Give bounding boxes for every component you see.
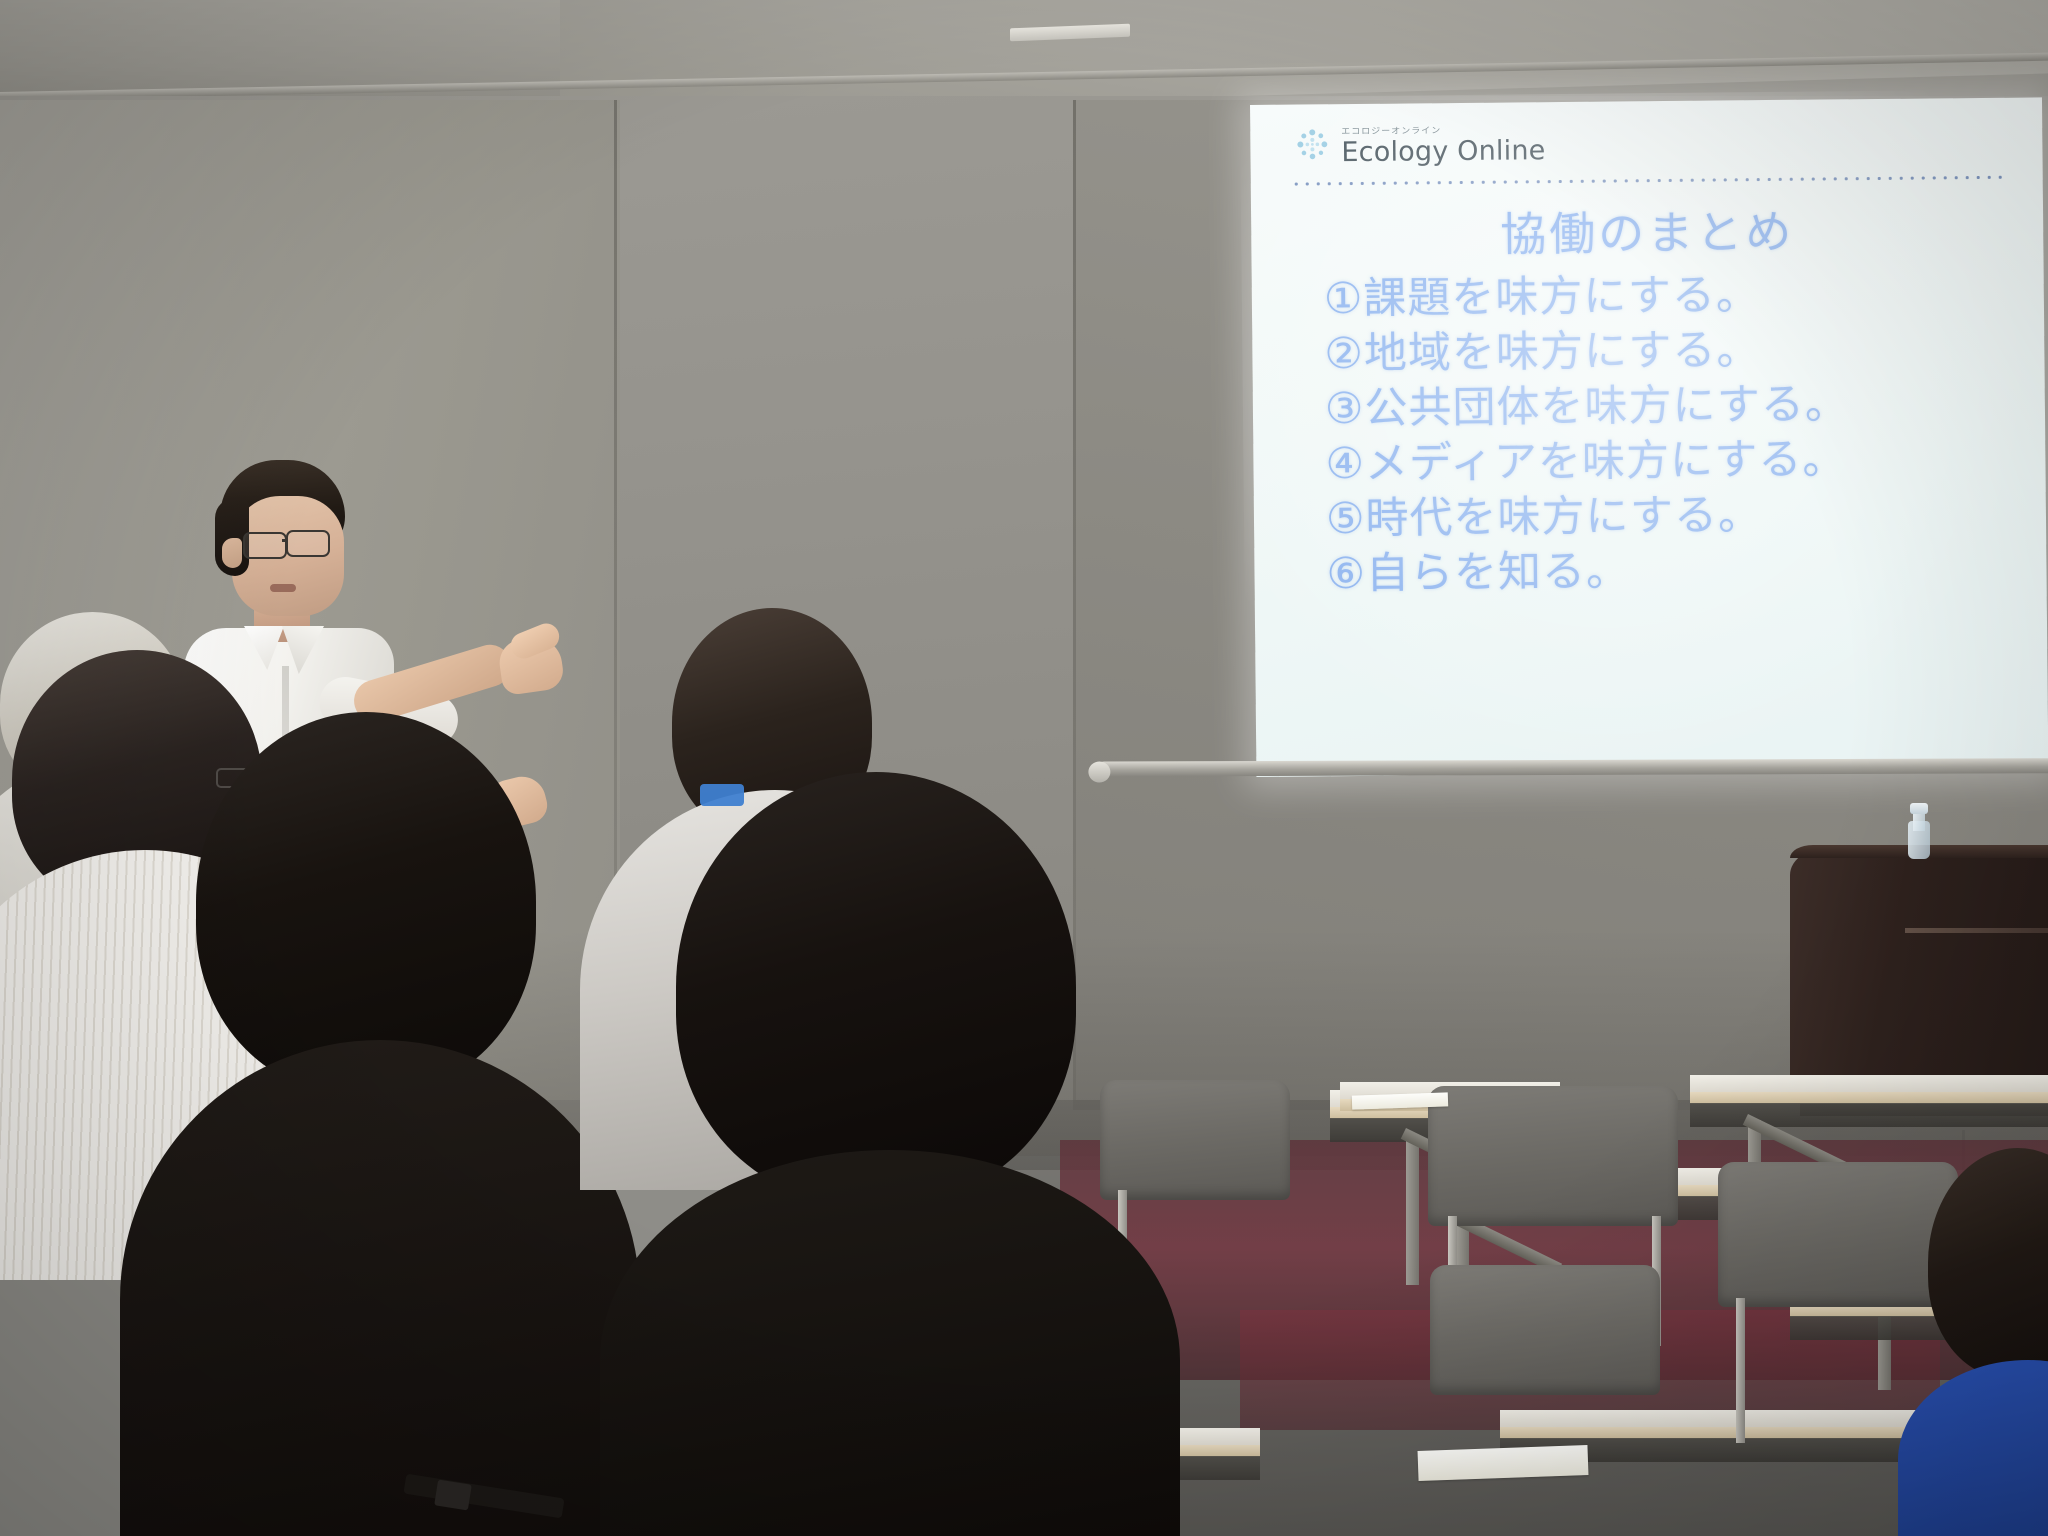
- list-item: ④メディアを味方にする。: [1325, 431, 2025, 493]
- chair-backrest: [1100, 1080, 1290, 1200]
- lectern-groove: [1905, 928, 2048, 933]
- chair: [1428, 1086, 1678, 1226]
- eyeglasses-icon: [286, 530, 330, 557]
- strap-buckle: [434, 1480, 472, 1511]
- desk-leg: [1406, 1135, 1419, 1285]
- chair: [1430, 1265, 1660, 1395]
- chair: [1100, 1080, 1290, 1200]
- bottle-cap: [1910, 803, 1928, 814]
- desk-top: [1690, 1075, 2048, 1093]
- paper-sheet: [1418, 1445, 1589, 1481]
- list-item: ⑤時代を味方にする。: [1326, 486, 2026, 548]
- slide-logo: エコロジーオンライン Ecology Online: [1292, 124, 1545, 166]
- bottle-neck: [1913, 813, 1925, 831]
- eyeglasses-bridge: [282, 539, 288, 542]
- list-item: ③公共団体を味方にする。: [1325, 376, 2025, 438]
- list-item: ②地域を味方にする。: [1324, 321, 2024, 383]
- ecology-online-dot-mark-icon: [1292, 126, 1332, 166]
- slide-bullet-list: ①課題を味方にする。 ②地域を味方にする。 ③公共団体を味方にする。 ④メディア…: [1324, 266, 2027, 603]
- chair-backrest: [1718, 1162, 1958, 1307]
- chair-backrest: [1430, 1265, 1660, 1395]
- lectern: [1790, 845, 2048, 1100]
- shoulders: [120, 1040, 640, 1536]
- lecture-room-photo: エコロジーオンライン Ecology Online 協働のまとめ ①課題を味方に…: [0, 0, 2048, 1536]
- chair-backrest: [1428, 1086, 1678, 1226]
- eyeglasses-icon: [243, 532, 287, 559]
- logo-wordmark: Ecology Online: [1341, 137, 1545, 166]
- chair-post: [1736, 1298, 1745, 1443]
- head: [196, 712, 536, 1092]
- list-item: ①課題を味方にする。: [1324, 266, 2024, 328]
- projection-screen: エコロジーオンライン Ecology Online 協働のまとめ ①課題を味方に…: [1250, 97, 2048, 777]
- list-item: ⑥自らを知る。: [1326, 541, 2026, 603]
- presenter-ear: [222, 538, 242, 568]
- water-bottle: [1908, 803, 1930, 859]
- head: [676, 772, 1076, 1202]
- lanyard: [700, 784, 744, 806]
- screen-roller-cap: [1088, 761, 1110, 782]
- slide-title: 協働のまとめ: [1251, 193, 2044, 267]
- presenter-mouth: [270, 584, 296, 592]
- chair: [1718, 1162, 1958, 1307]
- screen-surface: エコロジーオンライン Ecology Online 協働のまとめ ①課題を味方に…: [1250, 97, 2048, 777]
- slide-dotted-rule: [1291, 176, 2003, 186]
- desk: [1690, 1075, 2048, 1127]
